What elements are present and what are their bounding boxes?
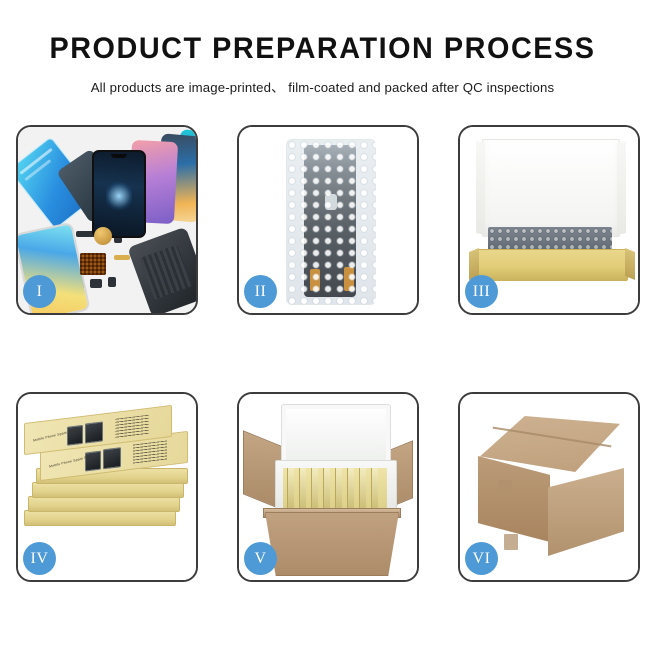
step-panel-6: VI <box>458 392 640 582</box>
process-step-grid: I II III <box>16 125 629 582</box>
carton-left-face-icon <box>478 456 550 542</box>
step-badge-1: I <box>23 275 56 308</box>
carton-right-face-icon <box>548 468 624 556</box>
stack-box-bottom-1 <box>24 510 176 526</box>
stacked-retail-boxes-image: Mobile Phone Spare Parts Mobile Phone Sp… <box>18 394 196 580</box>
carton-tab-lower-icon <box>504 534 518 550</box>
vibration-motor-icon <box>94 227 112 245</box>
carton-tab-upper-icon <box>498 480 512 498</box>
carton-with-foam-liner-image: V <box>239 394 417 580</box>
step-badge-2: II <box>244 275 277 308</box>
phone-screen-front-icon <box>92 150 146 238</box>
packed-retail-boxes-icon <box>283 468 387 508</box>
page-title: PRODUCT PREPARATION PROCESS <box>13 34 632 64</box>
speaker-mesh-icon <box>80 253 106 275</box>
kraft-box-base-icon <box>476 249 628 281</box>
stack-box-bottom-2 <box>28 496 180 512</box>
step-panel-2: II <box>237 125 419 315</box>
phone-open-chassis-icon <box>127 227 196 313</box>
box-print-screen-d <box>85 421 103 443</box>
sealed-shipping-carton-image: VI <box>460 394 638 580</box>
step-badge-6: VI <box>465 542 498 575</box>
box-lid-icon <box>482 139 620 237</box>
step-panel-4: Mobile Phone Spare Parts Mobile Phone Sp… <box>16 392 198 582</box>
open-mailer-box-image: III <box>460 127 638 313</box>
step-badge-3: III <box>465 275 498 308</box>
ic-chip-icon <box>90 279 102 288</box>
box-print-textlines <box>133 440 167 463</box>
box-print-textlines-rear <box>115 415 149 438</box>
foam-lid-icon <box>281 404 391 468</box>
button-part-icon <box>108 277 116 287</box>
step-panel-3: III <box>458 125 640 315</box>
step-panel-5: V <box>237 392 419 582</box>
bubble-texture-overlay <box>286 139 376 305</box>
step-badge-5: V <box>244 542 277 575</box>
bubble-wrapped-part-image: II <box>239 127 417 313</box>
stack-box-bottom-3 <box>32 482 184 498</box>
product-preparation-infographic: PRODUCT PREPARATION PROCESS All products… <box>0 0 645 645</box>
page-subtitle: All products are image-printed、 film-coa… <box>0 77 645 96</box>
carton-body-icon <box>265 512 399 576</box>
box-print-screen-b <box>103 447 121 469</box>
header: PRODUCT PREPARATION PROCESS All products… <box>0 0 645 96</box>
bubble-wrap-sleeve-icon <box>286 139 376 305</box>
phone-parts-assortment-image: I <box>18 127 196 313</box>
flex-cable-icon <box>114 255 130 260</box>
step-badge-4: IV <box>23 542 56 575</box>
step-panel-1: I <box>16 125 198 315</box>
